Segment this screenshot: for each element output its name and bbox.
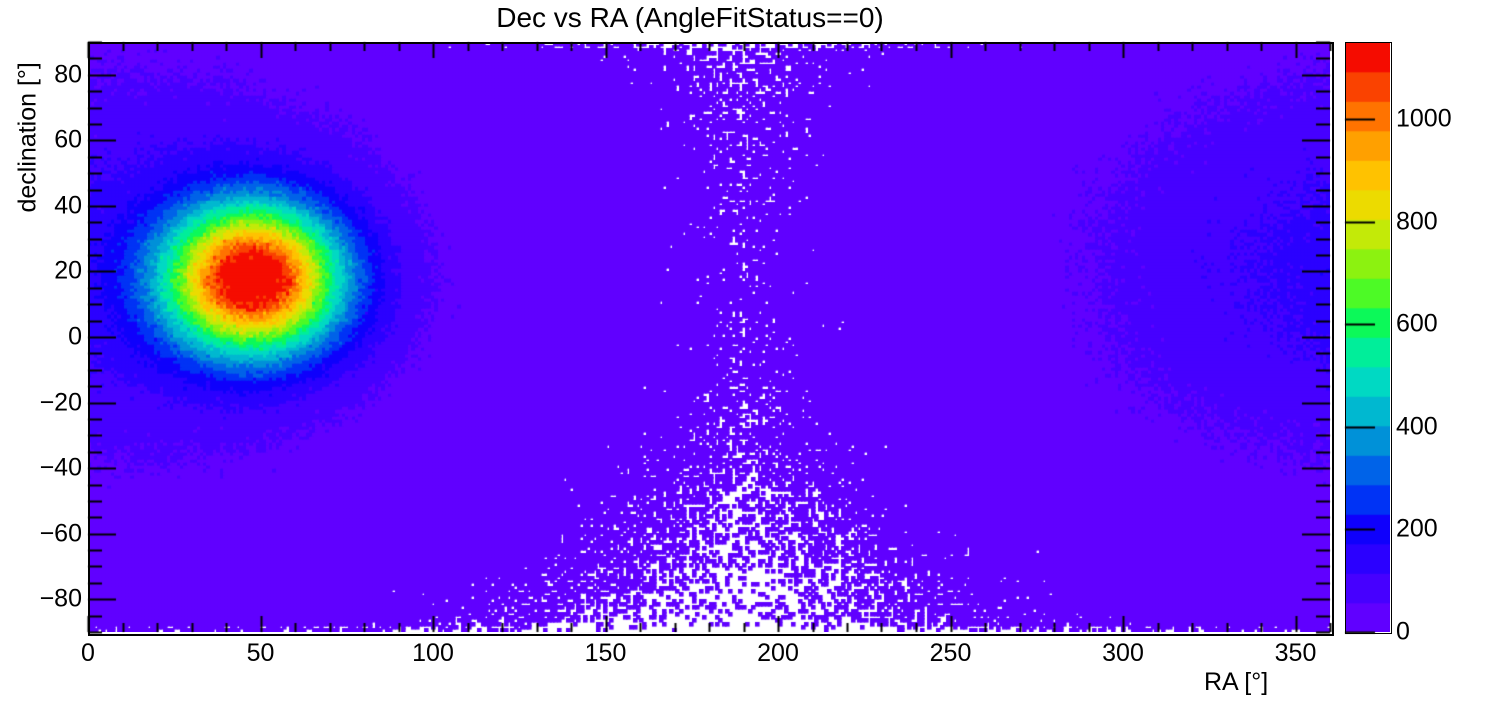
x-tick-150: 150 [585,639,627,668]
x-tick-300: 300 [1102,639,1144,668]
page-title: Dec vs RA (AngleFitStatus==0) [0,2,1380,34]
z-tick-400: 400 [1396,412,1438,441]
x-axis-title: RA [°] [1204,668,1268,697]
z-tick-0: 0 [1396,618,1410,647]
y-tick--20: −20 [40,388,82,417]
y-tick-60: 60 [54,126,82,155]
x-tick-50: 50 [247,639,275,668]
z-axis-title: count [1402,0,1431,52]
z-tick-200: 200 [1396,515,1438,544]
y-tick-40: 40 [54,191,82,220]
color-bar[interactable] [1345,42,1390,632]
y-tick--60: −60 [40,519,82,548]
y-tick-80: 80 [54,60,82,89]
y-tick-20: 20 [54,257,82,286]
y-axis-title: declination [°] [14,73,43,213]
y-tick-0: 0 [68,323,82,352]
histogram-plot-area[interactable] [88,42,1330,632]
z-tick-800: 800 [1396,207,1438,236]
z-tick-600: 600 [1396,310,1438,339]
y-tick--80: −80 [40,585,82,614]
x-tick-0: 0 [81,639,95,668]
x-tick-100: 100 [412,639,454,668]
y-tick--40: −40 [40,454,82,483]
z-tick-1000: 1000 [1396,104,1452,133]
x-tick-200: 200 [757,639,799,668]
x-tick-250: 250 [930,639,972,668]
root-plot-canvas: Dec vs RA (AngleFitStatus==0) 0501001502… [0,0,1496,722]
x-tick-350: 350 [1275,639,1317,668]
